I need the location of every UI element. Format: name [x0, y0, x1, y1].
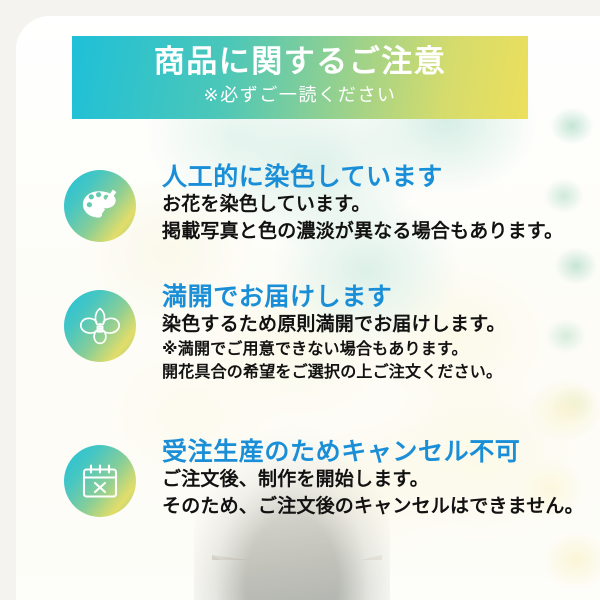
calendar-x-icon [64, 445, 136, 517]
notice-heading: 受注生産のためキャンセル不可 [162, 437, 584, 467]
notice-card: 商品に関するご注意 ※必ずご一読ください 人工的に染色しています お花を染色して… [16, 16, 600, 600]
notice-page: 商品に関するご注意 ※必ずご一読ください 人工的に染色しています お花を染色して… [0, 0, 600, 600]
orchid-icon [64, 290, 136, 362]
palette-icon [64, 170, 136, 242]
notice-line: 染色するため原則満開でお届けします。 [162, 312, 506, 339]
page-subtitle: ※必ずご一読ください [203, 84, 396, 107]
notice-line: そのため、ご注文後のキャンセルはできません。 [162, 494, 584, 521]
notice-line: ご注文後、制作を開始します。 [162, 467, 584, 494]
notice-line: お花を染色しています。 [162, 192, 563, 219]
notice-text-no-cancel: 受注生産のためキャンセル不可 ご注文後、制作を開始します。 そのため、ご注文後の… [162, 433, 584, 521]
notice-item-full-bloom: 満開でお届けします 染色するため原則満開でお届けします。 ※満開でご用意できない… [16, 278, 600, 423]
notice-line: ※満開でご用意できない場合もあります。 [162, 339, 506, 362]
notice-line: 開花具合の希望をご選択の上ご注文ください。 [162, 362, 506, 385]
notice-item-dyeing: 人工的に染色しています お花を染色しています。 掲載写真と色の濃淡が異なる場合も… [16, 158, 600, 268]
notice-line: 掲載写真と色の濃淡が異なる場合もあります。 [162, 219, 563, 246]
notice-list: 人工的に染色しています お花を染色しています。 掲載写真と色の濃淡が異なる場合も… [16, 158, 600, 553]
notice-item-no-cancel: 受注生産のためキャンセル不可 ご注文後、制作を開始します。 そのため、ご注文後の… [16, 433, 600, 543]
notice-heading: 満開でお届けします [162, 282, 506, 312]
notice-heading: 人工的に染色しています [162, 162, 563, 192]
page-title: 商品に関するご注意 [154, 46, 447, 79]
header-banner: 商品に関するご注意 ※必ずご一読ください [72, 36, 528, 119]
notice-text-full-bloom: 満開でお届けします 染色するため原則満開でお届けします。 ※満開でご用意できない… [162, 278, 506, 384]
notice-text-dyeing: 人工的に染色しています お花を染色しています。 掲載写真と色の濃淡が異なる場合も… [162, 158, 563, 246]
